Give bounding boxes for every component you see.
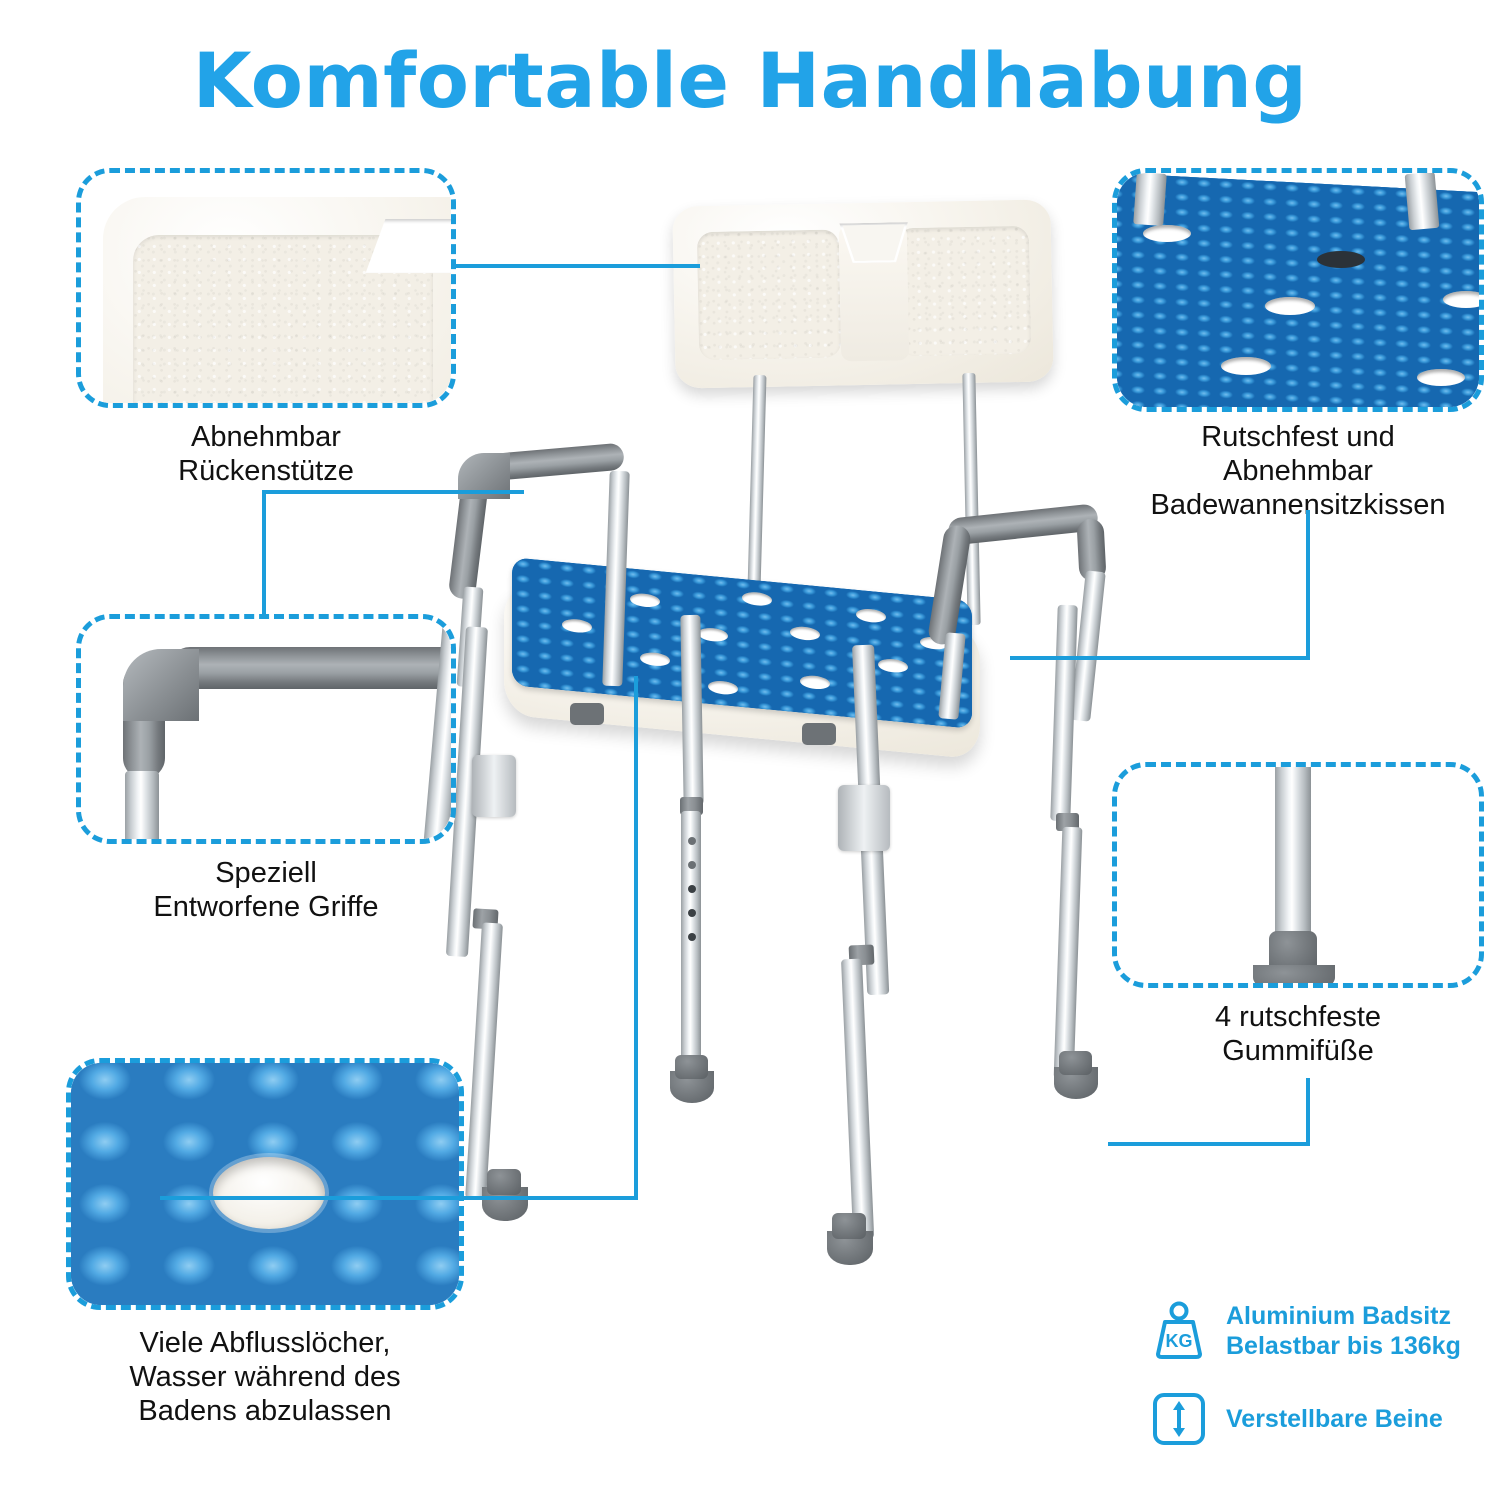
connector-handles-v (262, 490, 266, 616)
weight-kg-icon: KG (1148, 1300, 1210, 1362)
callout-cushion-label: Rutschfest und Abnehmbar Badewannensitzk… (1092, 420, 1500, 523)
connector-cushion-v (1306, 510, 1310, 660)
page-title: Komfortable Handhabung (0, 36, 1500, 125)
handle-closeup-tube (125, 771, 159, 839)
connector-drain-v (634, 676, 638, 1200)
leg-adjust-section (681, 811, 701, 1081)
callout-backrest-label: Abnehmbar Rückenstütze (76, 420, 456, 488)
cushion-closeup-hole (1143, 225, 1191, 242)
cushion-closeup-hole (1317, 251, 1365, 268)
page-title-text: Komfortable Handhabung (193, 36, 1308, 125)
leg-clamp (472, 755, 516, 817)
leg-adjust-hole (688, 861, 696, 869)
callout-drainholes-frame (66, 1058, 464, 1310)
height-adjust-arrow-icon (1148, 1388, 1210, 1450)
connector-cushion-h (1010, 656, 1310, 660)
callout-feet-label: 4 rutschfeste Gummifüße (1112, 1000, 1484, 1068)
cushion-closeup-post (1405, 173, 1440, 230)
callout-drainholes-label: Viele Abflusslöcher, Wasser während des … (46, 1326, 484, 1429)
callout-cushion-frame (1112, 168, 1484, 412)
cushion-closeup-hole (1417, 369, 1465, 386)
backrest-texture-left (697, 229, 841, 360)
spec-adjustable-text: Verstellbare Beine (1226, 1404, 1443, 1435)
backrest (672, 199, 1053, 388)
handle-closeup-elbow (123, 649, 199, 721)
svg-text:KG: KG (1166, 1331, 1193, 1351)
callout-backrest-frame (76, 168, 456, 408)
cushion-closeup-hole (1265, 297, 1315, 315)
cushion-closeup-hole (1221, 357, 1271, 375)
spec-adjustable: Verstellbare Beine (1148, 1388, 1488, 1450)
leg-adjust-hole (688, 885, 696, 893)
backrest-texture-right (897, 226, 1031, 357)
connector-feet-v (1306, 1078, 1310, 1146)
leg-adjust-hole (688, 933, 696, 941)
product-photo (420, 175, 1120, 1355)
foot-closeup-base (1253, 965, 1335, 983)
armrest-right-front-curve (927, 524, 972, 647)
connector-backrest (455, 264, 700, 268)
seat-knob (802, 723, 836, 745)
callout-handles-frame (76, 614, 456, 844)
spec-weight: KG Aluminium Badsitz Belastbar bis 136kg (1148, 1300, 1488, 1362)
leg-adjust-hole (688, 909, 696, 917)
seat-knob (570, 703, 604, 725)
armrest-right-lower-tube (938, 632, 965, 719)
drainhole-closeup-hole (213, 1157, 325, 1229)
leg-adjust-hole (688, 837, 696, 845)
connector-feet-h (1108, 1142, 1310, 1146)
callout-handles-label: Speziell Entworfene Griffe (76, 856, 456, 924)
leg-clamp (838, 785, 890, 851)
spec-list: KG Aluminium Badsitz Belastbar bis 136kg… (1148, 1300, 1488, 1476)
connector-drain-h (160, 1196, 638, 1200)
foot-closeup-tube (1275, 767, 1311, 941)
cushion-closeup-post (1133, 173, 1167, 226)
connector-handles-h (262, 490, 524, 494)
callout-feet-frame (1112, 762, 1484, 988)
armrest-left-rear-tube (602, 471, 629, 687)
spec-weight-text: Aluminium Badsitz Belastbar bis 136kg (1226, 1301, 1461, 1362)
armrest-left (430, 445, 630, 675)
handle-closeup-bar (169, 647, 451, 689)
